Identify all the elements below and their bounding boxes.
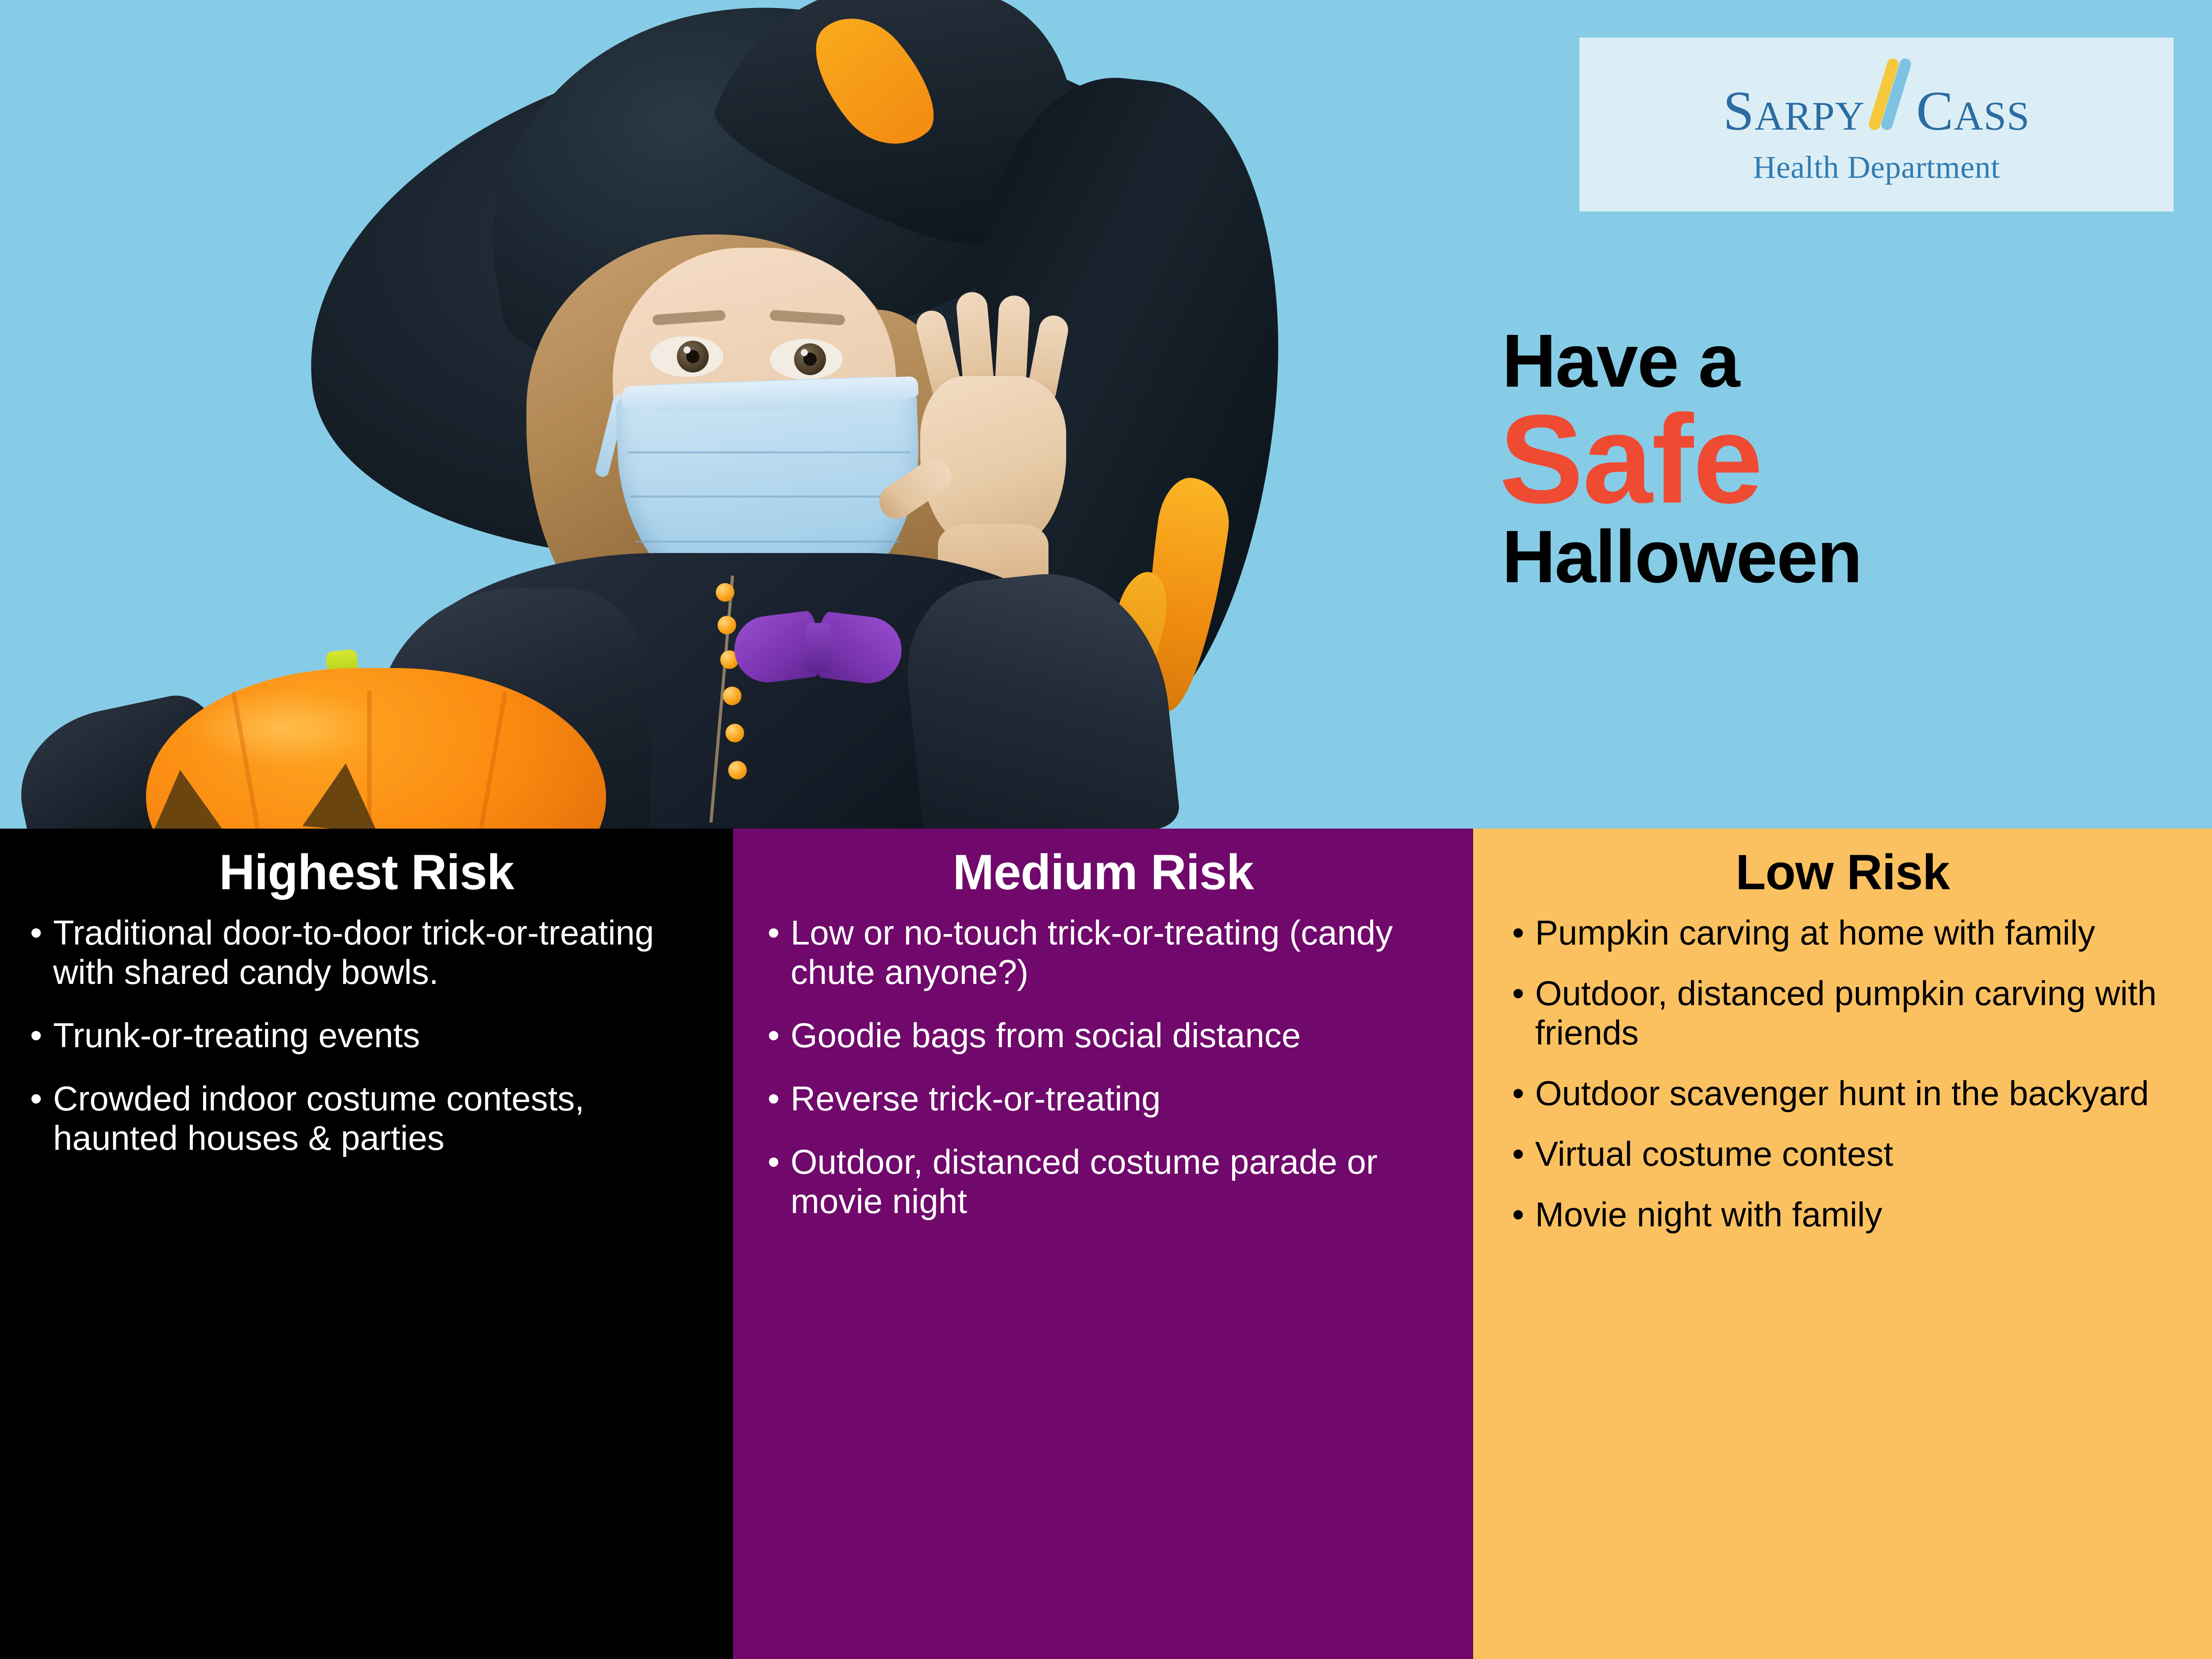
- halloween-photo: [0, 0, 1283, 829]
- bullet-icon: •: [768, 1142, 791, 1221]
- sarpy-cass-health-department-logo: SARPY CASS Health Department: [1579, 38, 2174, 211]
- list-item-text: Low or no-touch trick-or-treating (candy…: [791, 913, 1458, 992]
- list-item-text: Movie night with family: [1535, 1195, 2197, 1234]
- list-item: • Trunk-or-treating events: [30, 1016, 718, 1055]
- pumpkin-eye-left-shape: [143, 766, 225, 829]
- bead-shape: [718, 616, 736, 634]
- bullet-icon: •: [30, 913, 53, 992]
- bullet-icon: •: [768, 1016, 791, 1055]
- panel-low-risk: Low Risk • Pumpkin carving at home with …: [1473, 829, 2212, 1659]
- mask-pleat-shape: [630, 495, 907, 498]
- eye-glint-left-shape: [684, 346, 691, 353]
- list-item-text: Virtual costume contest: [1535, 1134, 2197, 1174]
- mask-pleat-shape: [635, 541, 901, 543]
- headline-line-2-safe: Safe: [1499, 399, 2166, 520]
- headline-line-3: Halloween: [1502, 521, 2166, 592]
- bead-shape: [726, 724, 744, 742]
- bullet-icon: •: [768, 913, 791, 992]
- pumpkin-eye-right-shape: [303, 760, 383, 829]
- logo-subtitle: Health Department: [1753, 149, 2000, 186]
- page-headline: Have a Safe Halloween: [1502, 325, 2166, 592]
- list-item-text: Reverse trick-or-treating: [791, 1079, 1458, 1118]
- bullet-icon: •: [1512, 1195, 1535, 1234]
- bead-shape: [716, 583, 734, 602]
- list-item: • Crowded indoor costume contests, haunt…: [30, 1079, 718, 1158]
- mask-pleat-shape: [627, 451, 910, 453]
- bullet-icon: •: [768, 1079, 791, 1118]
- bullet-icon: •: [1512, 1074, 1535, 1113]
- logo-sarpy-rest: ARPY: [1755, 93, 1865, 138]
- risk-levels-section: Highest Risk • Traditional door-to-door …: [0, 829, 2212, 1659]
- logo-wordmark: SARPY CASS: [1723, 63, 2030, 139]
- list-item-text: Trunk-or-treating events: [53, 1016, 718, 1055]
- list-item-text: Pumpkin carving at home with family: [1535, 913, 2197, 952]
- bead-shape: [728, 761, 747, 780]
- panel-low-risk-title: Low Risk: [1488, 829, 2197, 901]
- list-item-text: Traditional door-to-door trick-or-treati…: [53, 913, 718, 992]
- list-item: • Outdoor, distanced costume parade or m…: [768, 1142, 1458, 1221]
- list-item: • Movie night with family: [1512, 1195, 2197, 1234]
- logo-cass-rest: ASS: [1954, 93, 2030, 138]
- list-item-text: Goodie bags from social distance: [791, 1016, 1458, 1055]
- bullet-icon: •: [1512, 1134, 1535, 1174]
- panel-medium-risk: Medium Risk • Low or no-touch trick-or-t…: [733, 829, 1473, 1659]
- panel-medium-risk-list: • Low or no-touch trick-or-treating (can…: [748, 913, 1458, 1221]
- panel-medium-risk-title: Medium Risk: [748, 829, 1458, 901]
- logo-cass-text: CASS: [1916, 84, 2030, 139]
- panel-low-risk-list: • Pumpkin carving at home with family • …: [1488, 913, 2197, 1234]
- bullet-icon: •: [1512, 974, 1535, 1052]
- bullet-icon: •: [1512, 913, 1535, 952]
- bullet-icon: •: [30, 1079, 53, 1158]
- list-item: • Virtual costume contest: [1512, 1134, 2197, 1174]
- list-item: • Traditional door-to-door trick-or-trea…: [30, 913, 718, 992]
- list-item: • Outdoor scavenger hunt in the backyard: [1512, 1074, 2197, 1113]
- logo-sarpy-text: SARPY: [1723, 84, 1865, 139]
- panel-highest-risk-title: Highest Risk: [15, 829, 718, 901]
- list-item-text: Outdoor, distanced costume parade or mov…: [791, 1142, 1458, 1221]
- list-item-text: Crowded indoor costume contests, haunted…: [53, 1079, 718, 1158]
- bowtie-knot-shape: [805, 623, 832, 672]
- hero-banner: SARPY CASS Health Department Have a Safe…: [0, 0, 2212, 829]
- bead-shape: [723, 687, 741, 705]
- list-item: • Low or no-touch trick-or-treating (can…: [768, 913, 1458, 992]
- panel-highest-risk-list: • Traditional door-to-door trick-or-trea…: [15, 913, 718, 1158]
- pumpkin-highlight-shape: [190, 690, 376, 765]
- eye-glint-right-shape: [801, 349, 808, 356]
- list-item-text: Outdoor, distanced pumpkin carving with …: [1535, 974, 2197, 1052]
- list-item: • Outdoor, distanced pumpkin carving wit…: [1512, 974, 2197, 1052]
- logo-slash-icon: [1866, 63, 1914, 130]
- list-item: • Pumpkin carving at home with family: [1512, 913, 2197, 952]
- list-item: • Reverse trick-or-treating: [768, 1079, 1458, 1118]
- list-item: • Goodie bags from social distance: [768, 1016, 1458, 1055]
- bullet-icon: •: [30, 1016, 53, 1055]
- panel-highest-risk: Highest Risk • Traditional door-to-door …: [0, 829, 733, 1659]
- list-item-text: Outdoor scavenger hunt in the backyard: [1535, 1074, 2197, 1113]
